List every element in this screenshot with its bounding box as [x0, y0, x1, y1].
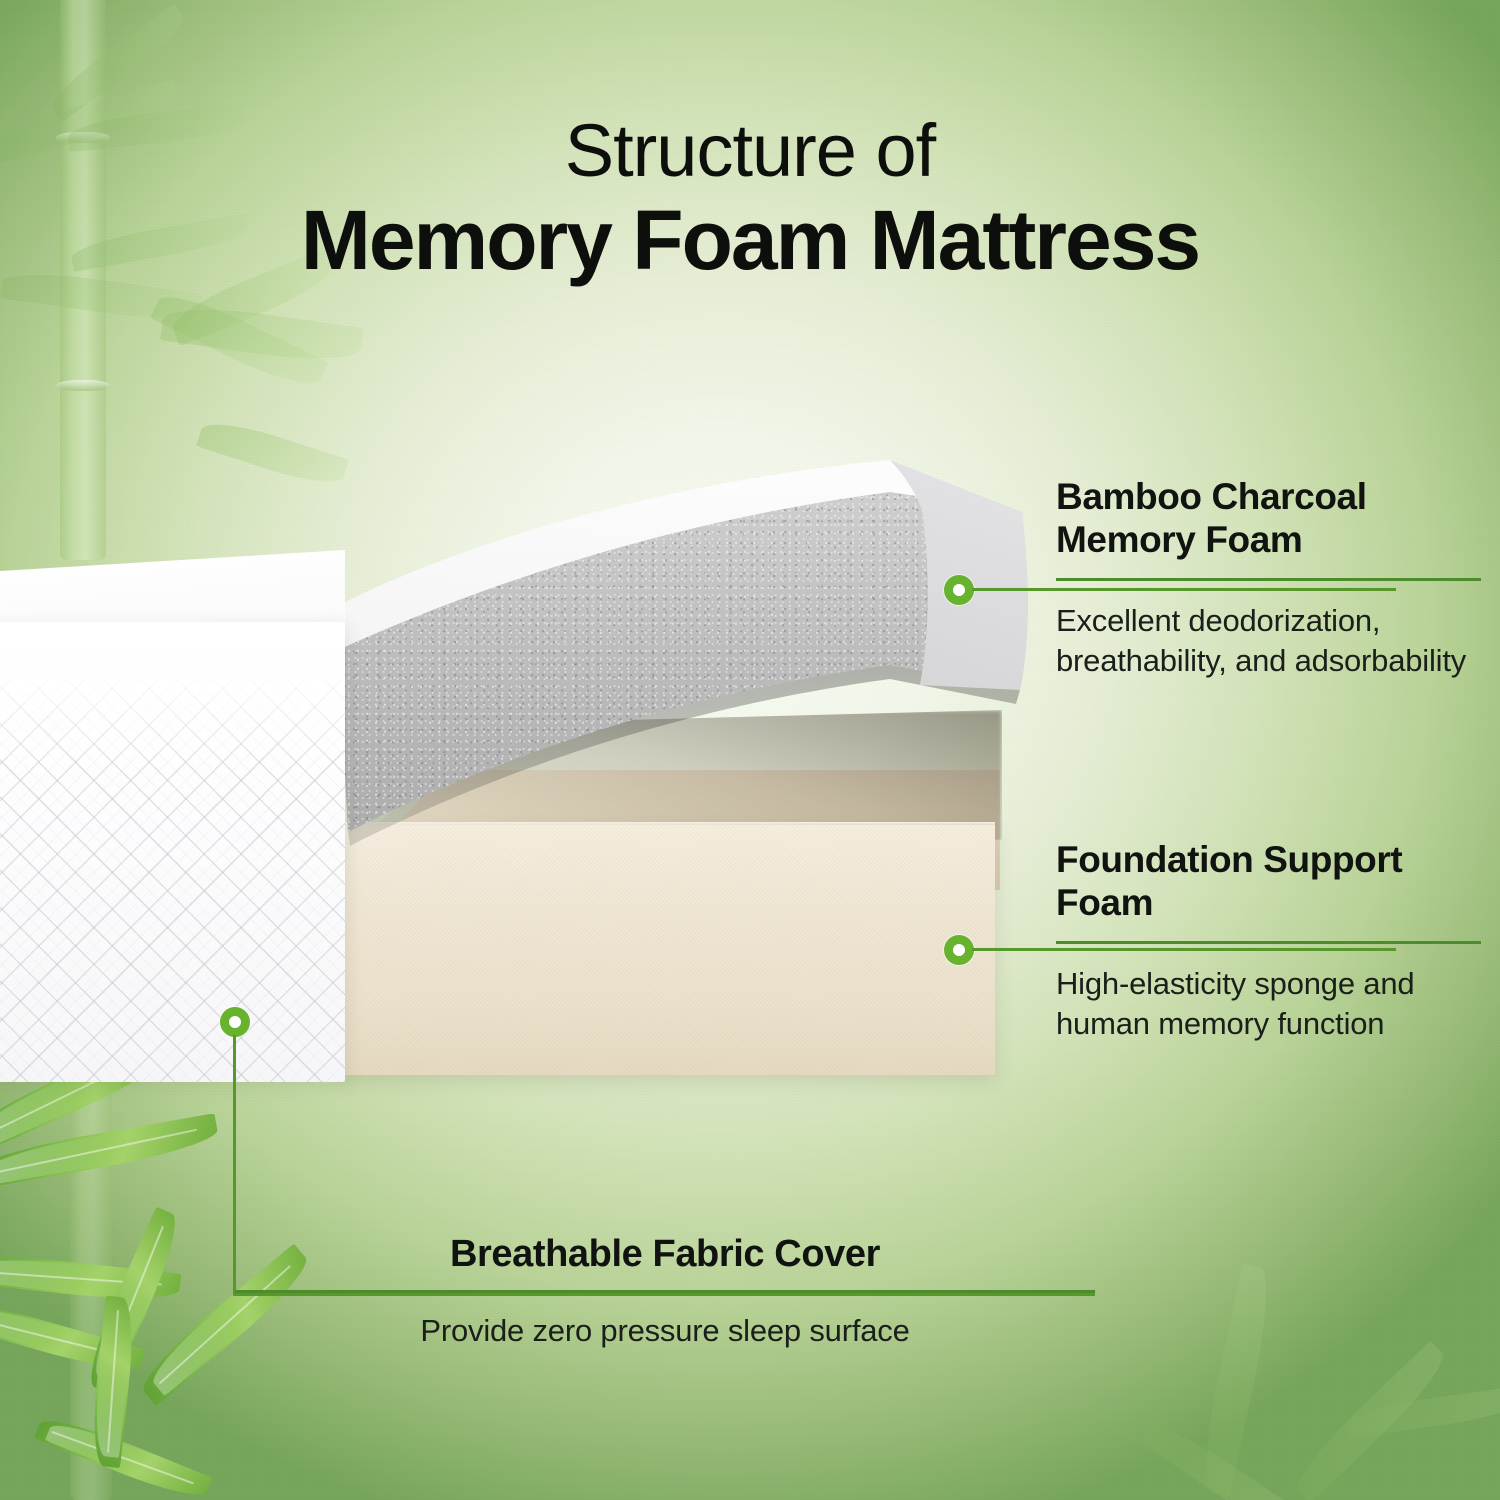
callout-title: Foundation Support Foam	[1056, 838, 1481, 925]
callout-divider	[1056, 941, 1481, 944]
title-line-2: Memory Foam Mattress	[0, 196, 1500, 285]
fabric-cover-sheen	[0, 680, 345, 1082]
callout-marker-foundation-foam[interactable]	[944, 935, 974, 965]
fabric-cover-front-face	[0, 622, 345, 1082]
callout-bamboo-charcoal-memory-foam: Bamboo Charcoal Memory Foam Excellent de…	[1056, 475, 1481, 681]
callout-foundation-support-foam: Foundation Support Foam High-elasticity …	[1056, 838, 1481, 1044]
title-line-1: Structure of	[0, 112, 1500, 190]
callout-title: Bamboo Charcoal Memory Foam	[1056, 475, 1481, 562]
callout-marker-fabric-cover[interactable]	[220, 1007, 250, 1037]
callout-marker-charcoal-foam[interactable]	[944, 575, 974, 605]
callout-description: Provide zero pressure sleep surface	[235, 1311, 1095, 1351]
infographic-canvas: Structure of Memory Foam Mattress	[0, 0, 1500, 1500]
page-title: Structure of Memory Foam Mattress	[0, 112, 1500, 285]
callout-description: High-elasticity sponge and human memory …	[1056, 964, 1481, 1045]
mattress-illustration	[0, 430, 1030, 1110]
charcoal-memory-foam-slab	[330, 460, 1030, 880]
callout-divider	[235, 1290, 1095, 1293]
callout-title: Breathable Fabric Cover	[235, 1232, 1095, 1276]
callout-description: Excellent deodorization, breathability, …	[1056, 601, 1481, 682]
callout-divider	[1056, 578, 1481, 581]
callout-breathable-fabric-cover: Breathable Fabric Cover Provide zero pre…	[235, 1232, 1095, 1352]
